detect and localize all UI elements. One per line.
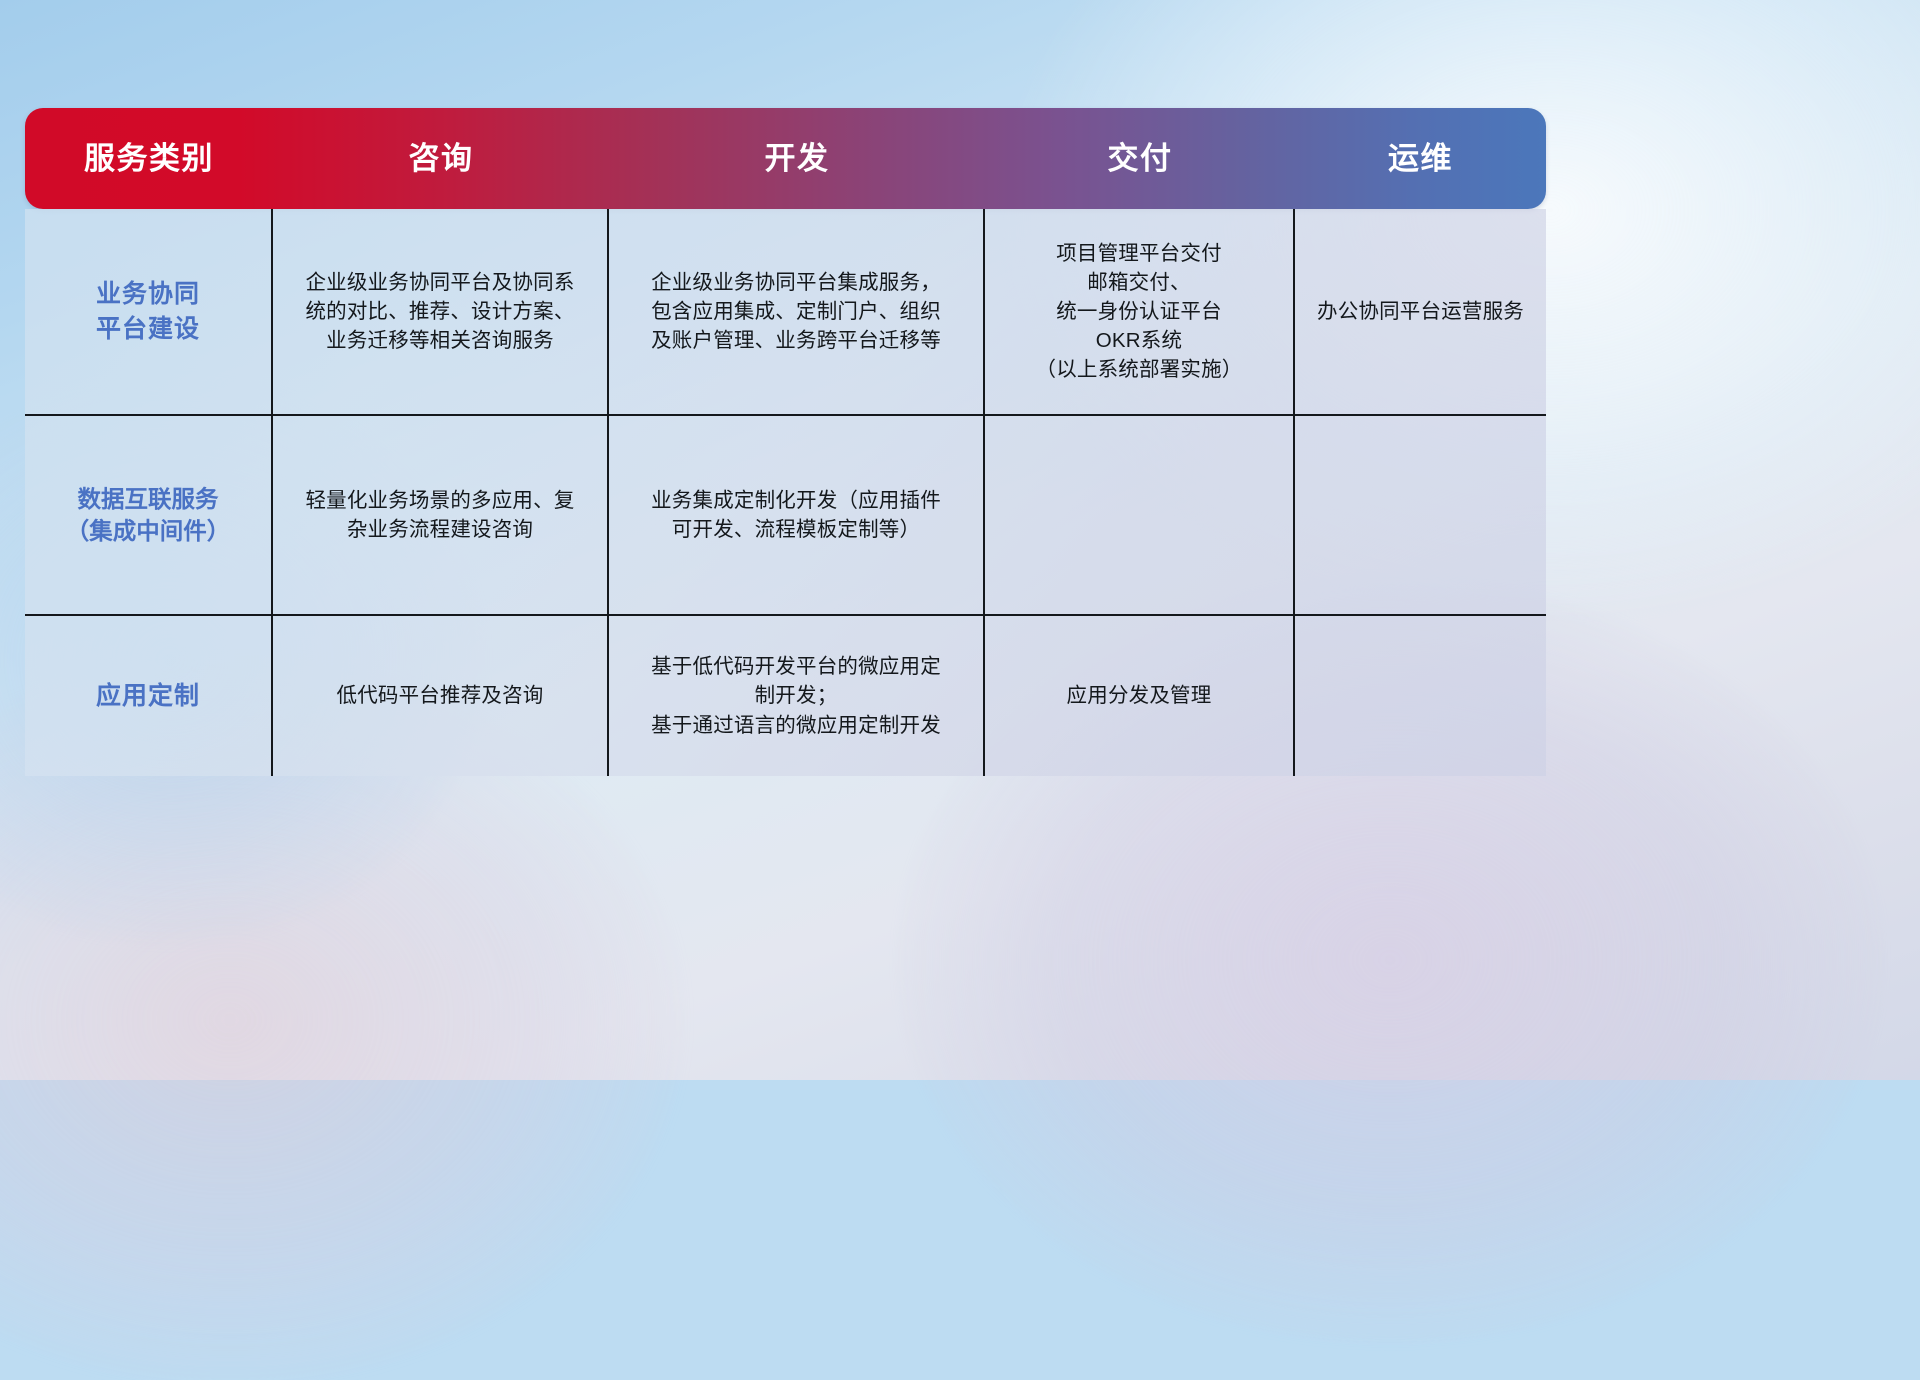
cell-r1-consulting: 轻量化业务场景的多应用、复 杂业务流程建设咨询 <box>273 416 609 614</box>
cell-r2-consulting: 低代码平台推荐及咨询 <box>273 616 609 776</box>
table-row: 业务协同 平台建设 企业级业务协同平台及协同系 统的对比、推荐、设计方案、 业务… <box>25 209 1546 414</box>
table-header-cell-development: 开发 <box>609 143 985 174</box>
cell-r0-consulting: 企业级业务协同平台及协同系 统的对比、推荐、设计方案、 业务迁移等相关咨询服务 <box>273 209 609 414</box>
cell-r0-development: 企业级业务协同平台集成服务， 包含应用集成、定制门户、组织 及账户管理、业务跨平… <box>609 209 985 414</box>
row-label-business-collaboration-platform: 业务协同 平台建设 <box>25 209 273 414</box>
service-category-table: 服务类别 咨询 开发 交付 运维 业务协同 平台建设 企业级业务协同平台及协同系… <box>25 108 1546 776</box>
table-body: 业务协同 平台建设 企业级业务协同平台及协同系 统的对比、推荐、设计方案、 业务… <box>25 209 1546 776</box>
cell-r1-delivery <box>985 416 1295 614</box>
cell-r0-delivery: 项目管理平台交付 邮箱交付、 统一身份认证平台 OKR系统 （以上系统部署实施） <box>985 209 1295 414</box>
cell-r1-development: 业务集成定制化开发（应用插件 可开发、流程模板定制等） <box>609 416 985 614</box>
table-header-cell-delivery: 交付 <box>985 143 1295 174</box>
cell-r0-operations: 办公协同平台运营服务 <box>1295 209 1546 414</box>
cell-r2-operations <box>1295 616 1546 776</box>
cell-r2-delivery: 应用分发及管理 <box>985 616 1295 776</box>
row-label-application-customization: 应用定制 <box>25 616 273 776</box>
table-header-cell-service-category: 服务类别 <box>25 143 273 174</box>
row-label-data-interconnect-service: 数据互联服务 （集成中间件） <box>25 416 273 614</box>
table-header-cell-operations: 运维 <box>1295 143 1546 174</box>
table-header-row: 服务类别 咨询 开发 交付 运维 <box>25 108 1546 209</box>
cell-r2-development: 基于低代码开发平台的微应用定 制开发； 基于通过语言的微应用定制开发 <box>609 616 985 776</box>
table-row: 应用定制 低代码平台推荐及咨询 基于低代码开发平台的微应用定 制开发； 基于通过… <box>25 614 1546 776</box>
table-row: 数据互联服务 （集成中间件） 轻量化业务场景的多应用、复 杂业务流程建设咨询 业… <box>25 414 1546 614</box>
cell-r1-operations <box>1295 416 1546 614</box>
table-header-cell-consulting: 咨询 <box>273 143 609 174</box>
